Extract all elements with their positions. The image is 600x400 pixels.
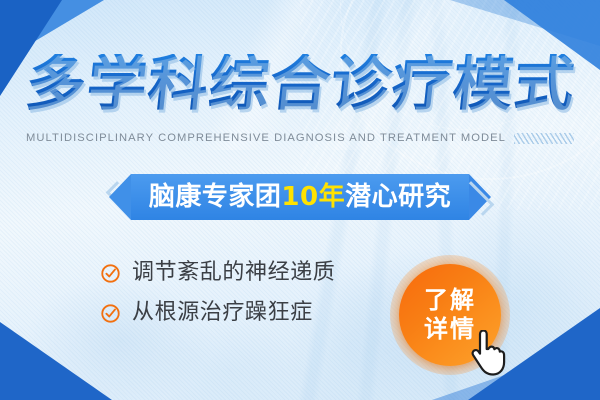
ribbon-area: 脑康专家团10年潜心研究 — [0, 174, 600, 220]
benefit-list: 调节紊乱的神经递质 从根源治疗躁狂症 — [100, 262, 335, 324]
list-item: 从根源治疗躁狂症 — [100, 302, 335, 324]
promo-banner: 多学科综合诊疗模式 MULTIDISCIPLINARY COMPREHENSIV… — [0, 0, 600, 400]
headline-area: 多学科综合诊疗模式 — [0, 54, 600, 114]
hatch-decoration-icon — [514, 133, 574, 144]
corner-triangle-bottom-left — [0, 322, 112, 400]
list-item-label: 调节紊乱的神经递质 — [132, 262, 335, 284]
main-title: 多学科综合诊疗模式 — [18, 54, 581, 114]
cta-area: 了解 详情 — [399, 264, 501, 366]
ribbon-text-after: 潜心研究 — [345, 182, 451, 212]
subtitle-area: MULTIDISCIPLINARY COMPREHENSIVE DIAGNOSI… — [0, 132, 600, 144]
check-circle-icon — [100, 303, 121, 324]
pointing-hand-cursor-icon — [467, 330, 507, 376]
english-subtitle: MULTIDISCIPLINARY COMPREHENSIVE DIAGNOSI… — [26, 132, 506, 144]
ribbon-banner: 脑康专家团10年潜心研究 — [131, 174, 469, 220]
ribbon-text-before: 脑康专家团 — [149, 182, 282, 212]
list-item-label: 从根源治疗躁狂症 — [132, 302, 313, 324]
chevron-right-icon — [471, 176, 485, 218]
list-item: 调节紊乱的神经递质 — [100, 262, 335, 284]
ribbon-highlight: 10年 — [281, 182, 345, 212]
check-circle-icon — [100, 263, 121, 284]
cta-line-1: 了解 — [424, 287, 476, 314]
ribbon-text: 脑康专家团10年潜心研究 — [149, 184, 451, 210]
